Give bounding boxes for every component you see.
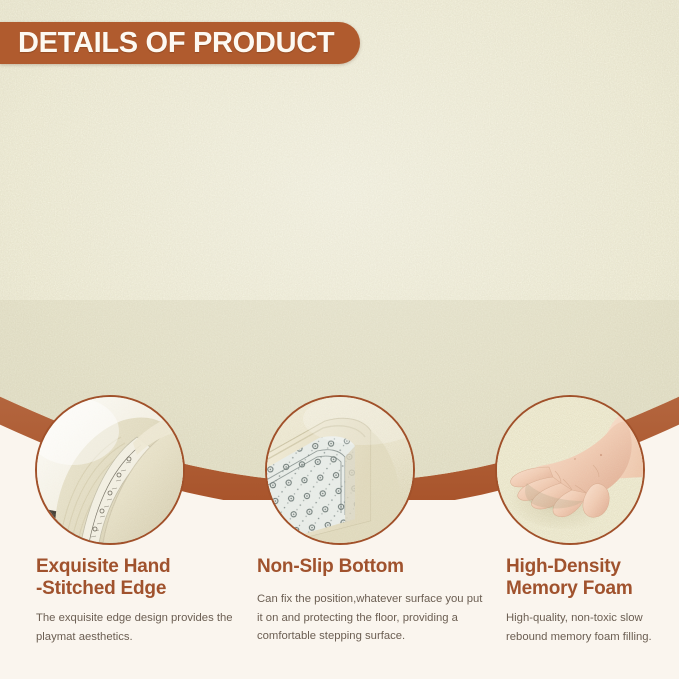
caption-exquisite-hand-stitched-edge: Exquisite Hand -Stitched Edge The exquis… [36,556,236,646]
caption-title: Non-Slip Bottom [257,556,485,578]
caption-non-slip-bottom: Non-Slip Bottom Can fix the position,wha… [257,556,485,645]
caption-title: High-Density Memory Foam [506,556,671,600]
section-header-banner: DETAILS OF PRODUCT [0,22,360,64]
feature-image-exquisite-hand-stitched-edge [35,395,185,545]
feature-image-non-slip-bottom [265,395,415,545]
product-details-infographic: DETAILS OF PRODUCT [0,0,679,679]
caption-high-density-memory-foam: High-Density Memory Foam High-quality, n… [506,556,671,646]
caption-body: Can fix the position,whatever surface yo… [257,590,485,645]
caption-title-line-2: -Stitched Edge [36,578,166,599]
caption-body: The exquisite edge design provides the p… [36,609,236,646]
feature-captions: Exquisite Hand -Stitched Edge The exquis… [0,556,679,679]
caption-title: Exquisite Hand -Stitched Edge [36,556,236,600]
caption-body: High-quality, non-toxic slow rebound mem… [506,609,671,646]
caption-title-line-1: Exquisite Hand [36,556,170,577]
feature-image-high-density-memory-foam [495,395,645,545]
page-title: DETAILS OF PRODUCT [18,29,334,58]
caption-title-line-2: Memory Foam [506,578,633,599]
caption-title-line-1: High-Density [506,556,621,577]
